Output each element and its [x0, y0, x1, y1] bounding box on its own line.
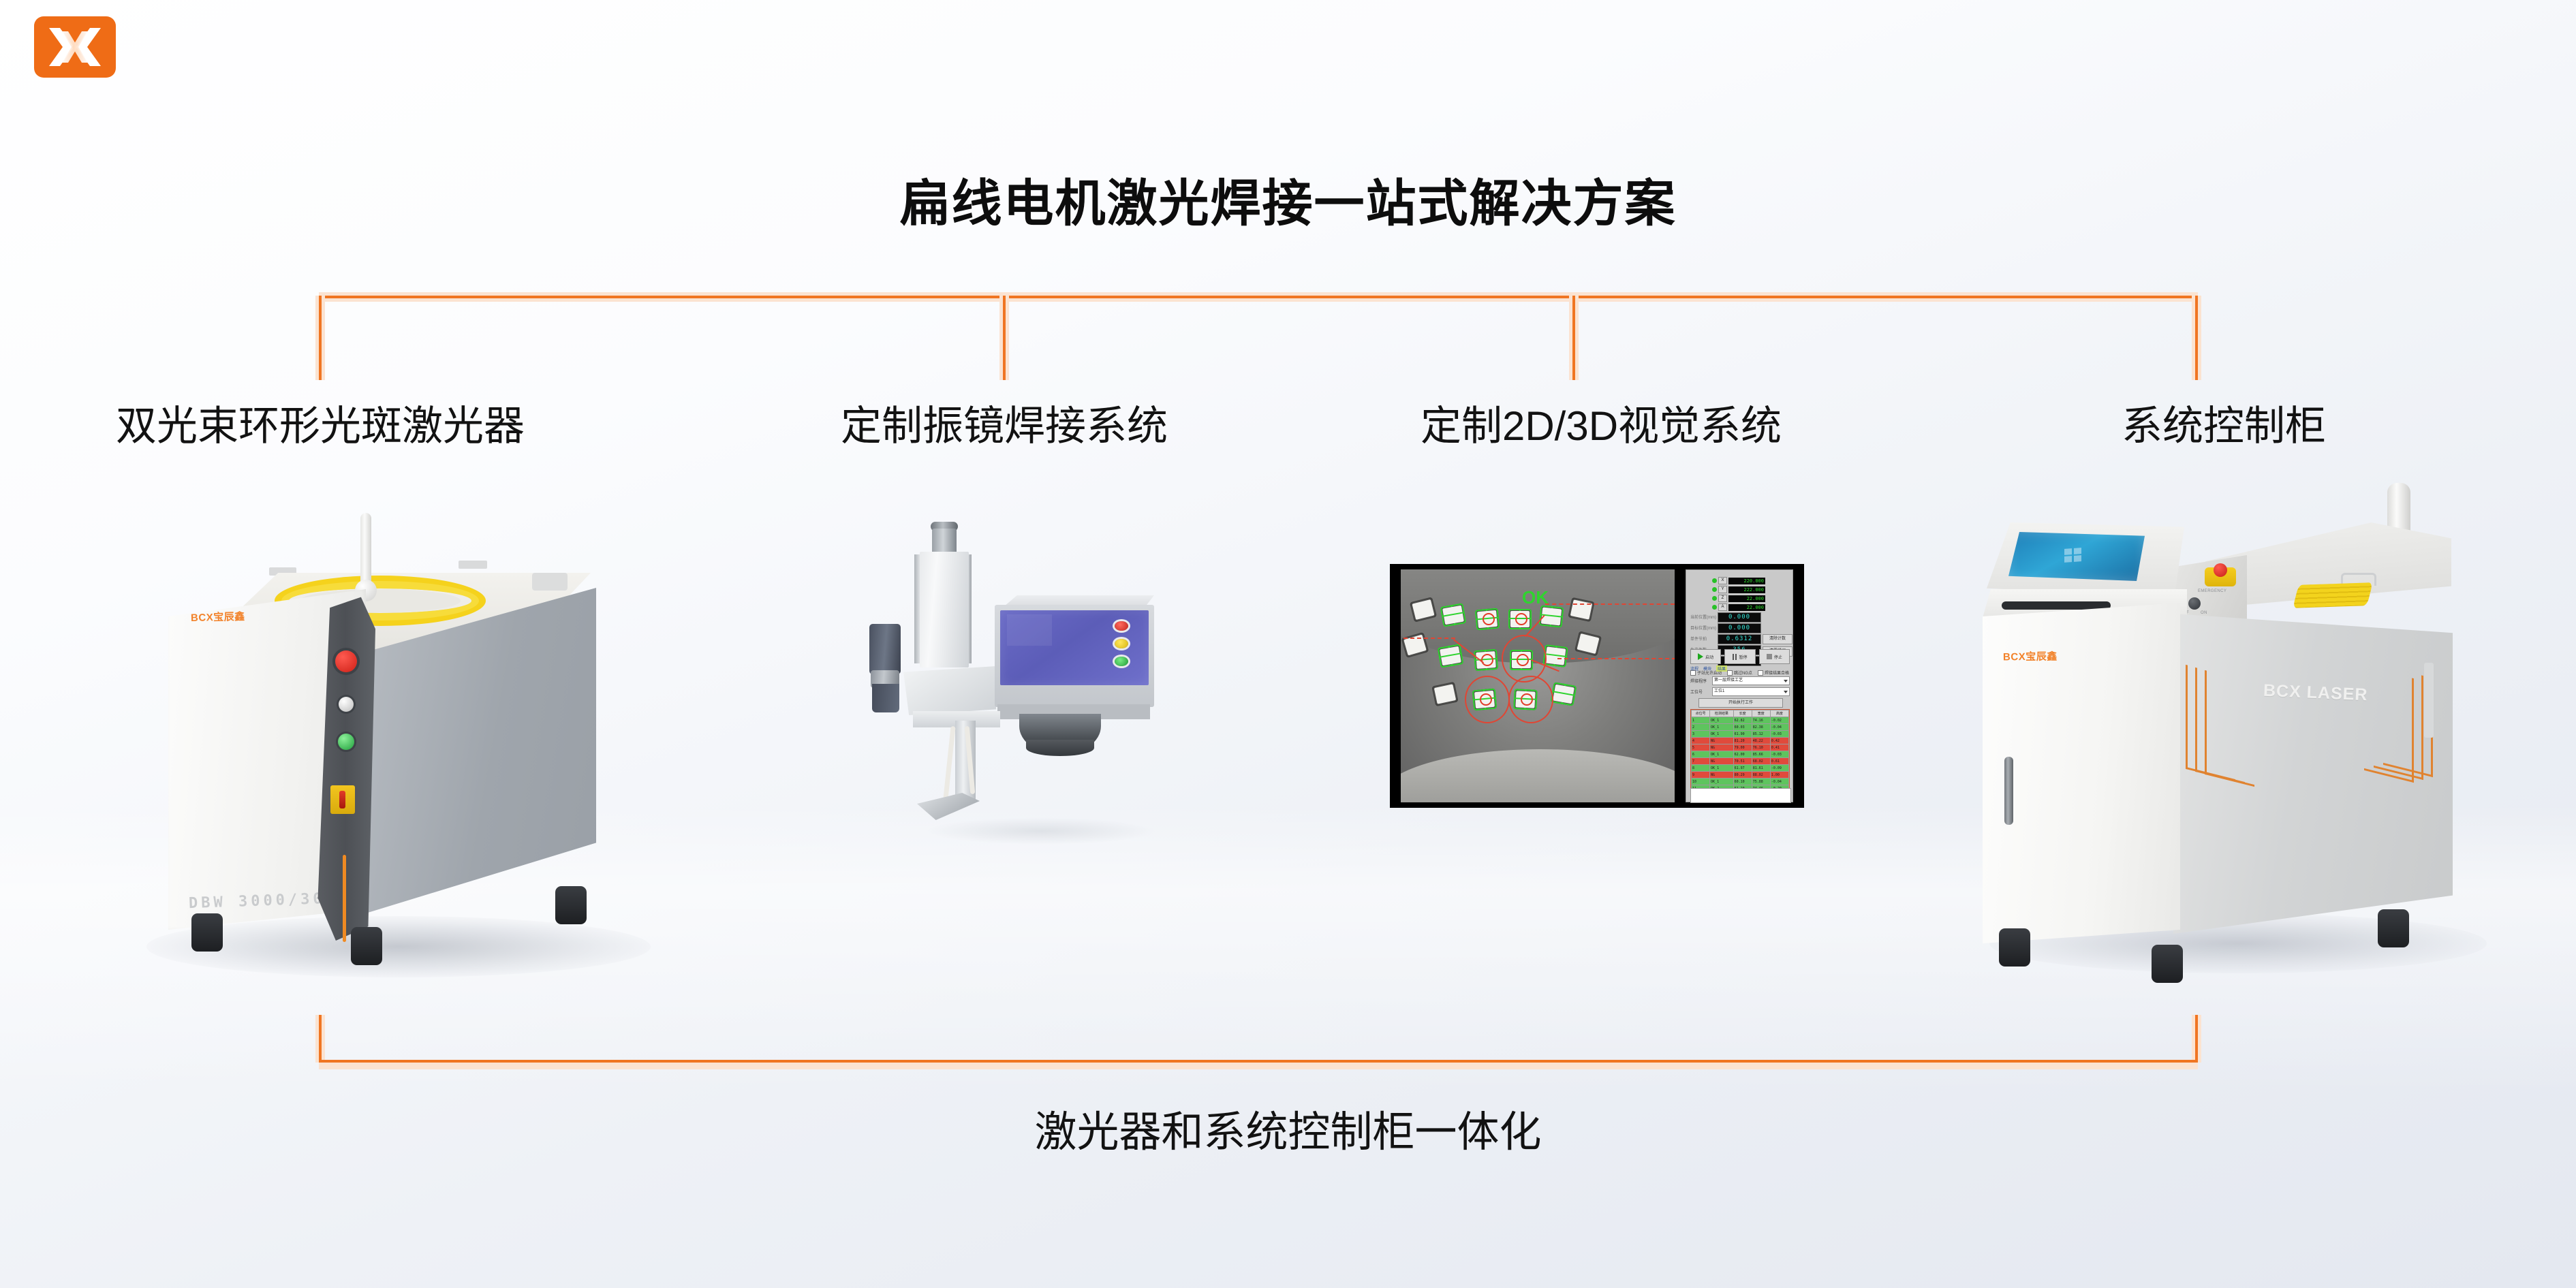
- laser-lug-hole: [532, 573, 568, 591]
- select-station[interactable]: 工位1: [1712, 687, 1790, 696]
- readout-label: 目标位置(mm): [1690, 625, 1716, 631]
- table-row[interactable]: 6OK_162.0085.66-0.03: [1692, 751, 1789, 758]
- table-cell: -0.09: [1770, 765, 1788, 772]
- vision-control-panel: X220.000 Y222.000 Z22.000 A22.000 当前位置(m…: [1686, 569, 1793, 802]
- caster-wheel: [555, 886, 587, 924]
- caster-wheel: [2378, 909, 2409, 947]
- table-cell: 3: [1692, 731, 1710, 738]
- clear-count-button[interactable]: 清除计数: [1763, 634, 1793, 644]
- table-cell: OK_1: [1710, 751, 1734, 758]
- control-cabinet-unit: EMERGENCY OFF ON START BCX LASER BCX宝辰鑫: [1969, 480, 2507, 998]
- table-cell: 10: [1692, 779, 1710, 785]
- table-cell: -0.04: [1770, 779, 1788, 785]
- th-length: 长度: [1733, 710, 1752, 717]
- bcx-chevron-logo-icon: [34, 16, 116, 78]
- power-selector-knob[interactable]: [339, 697, 354, 712]
- select-label-station: 工位号: [1690, 689, 1709, 695]
- table-cell: 60.10: [1733, 779, 1752, 785]
- fiber-coil: [2293, 582, 2373, 608]
- vision-system-screenshot: OK X220.000 Y222.000 Z22.000 A22.000 当前位…: [1390, 564, 1804, 808]
- table-cell: 0.41: [1770, 744, 1788, 751]
- indicator-lamp-green: [1115, 657, 1128, 666]
- inspection-highlight-circle: [1465, 676, 1510, 723]
- windows-logo-icon: [2064, 548, 2082, 563]
- axis-value: 222.000: [1728, 586, 1765, 593]
- callout-dashed-line: [1545, 603, 1675, 605]
- table-row[interactable]: 1OK_162.8274.16-0.02: [1692, 717, 1789, 724]
- table-cell: OK_1: [1710, 779, 1734, 785]
- table-cell: 4: [1692, 738, 1710, 744]
- table-cell: 6: [1692, 751, 1710, 758]
- laser-brand-mark: BCX宝辰鑫: [191, 609, 245, 625]
- table-cell: -0.02: [1770, 717, 1788, 724]
- table-cell: 1: [1692, 717, 1710, 724]
- readout-value: 0.000: [1718, 623, 1761, 633]
- chevron-graphic: [2205, 670, 2254, 787]
- axis-readout-group: X220.000 Y222.000 Z22.000 A22.000: [1712, 577, 1765, 612]
- table-row[interactable]: 8OK_161.9781.61-0.09: [1692, 765, 1789, 772]
- table-row[interactable]: 2OK_160.0382.38-0.04: [1692, 724, 1789, 731]
- table-cell: OK_1: [1710, 765, 1734, 772]
- table-cell: 81.20: [1733, 738, 1752, 744]
- table-cell: -0.03: [1770, 751, 1788, 758]
- table-cell: 88.02: [1752, 772, 1770, 779]
- table-cell: 0.42: [1770, 738, 1788, 744]
- table-cell: 61.90: [1733, 731, 1752, 738]
- caster-wheel: [191, 913, 223, 952]
- start-button[interactable]: [338, 734, 354, 750]
- axis-name: A: [1718, 603, 1727, 611]
- servo-motor: [869, 624, 901, 674]
- table-row[interactable]: 10OK_160.1075.88-0.04: [1692, 779, 1789, 785]
- column-label-cabinet: 系统控制柜: [2013, 406, 2435, 447]
- cabinet-right-panel: [2173, 614, 2453, 934]
- table-cell: 70.51: [1733, 758, 1752, 765]
- hairpin-pad: [1431, 682, 1458, 706]
- page-title: 扁线电机激光焊接一站式解决方案: [0, 178, 2576, 229]
- air-tube: [943, 726, 955, 800]
- bottom-connector-bracket: [319, 1015, 2198, 1105]
- table-cell: 60.03: [1733, 724, 1752, 731]
- accent-stripe: [343, 855, 346, 942]
- pause-run-button[interactable]: 暂停: [1724, 649, 1755, 664]
- table-cell: 62.82: [1733, 717, 1752, 724]
- galvo-shadow: [925, 817, 1157, 845]
- main-switch[interactable]: [330, 785, 355, 814]
- laser-source-unit: BCX宝辰鑫 DBW 3000/3000: [126, 507, 671, 998]
- readout-value: 0.6312: [1718, 634, 1761, 644]
- axis-value: 22.000: [1728, 595, 1765, 602]
- hairpin-pad-detected: [1438, 644, 1464, 667]
- table-cell: 85.66: [1752, 751, 1770, 758]
- axis-row: A22.000: [1712, 603, 1765, 611]
- galvo-z-column: [920, 552, 969, 667]
- table-cell: OK_1: [1710, 724, 1734, 731]
- start-run-button[interactable]: 启动: [1690, 649, 1721, 664]
- axis-name: Y: [1718, 586, 1727, 593]
- axis-name: Z: [1718, 595, 1727, 602]
- emergency-stop-button[interactable]: [335, 650, 357, 672]
- table-cell: 85.12: [1752, 731, 1770, 738]
- table-cell: 0.61: [1770, 758, 1788, 765]
- hairpin-pad-detected: [1542, 644, 1568, 667]
- inspection-highlight-circle: [1508, 676, 1553, 723]
- table-header-row: 点位号 检测结果 长度 宽度 高度: [1692, 710, 1789, 717]
- galvo-mount-arm: [903, 666, 996, 715]
- table-cell: NG: [1710, 738, 1734, 744]
- indicator-lamp-red: [1115, 621, 1128, 631]
- emergency-stop-button[interactable]: [2205, 567, 2236, 586]
- start-work-button[interactable]: 开始执行工作: [1698, 698, 1783, 708]
- weld-center-marker: [1515, 613, 1527, 625]
- table-row[interactable]: 7NG70.5168.020.61: [1692, 758, 1789, 765]
- table-cell: 1.00: [1770, 772, 1788, 779]
- footer-caption: 激光器和系统控制柜一体化: [0, 1112, 2576, 1154]
- column-label-laser: 双光束环形光斑激光器: [82, 406, 559, 447]
- axis-value: 220.000: [1728, 578, 1765, 584]
- stator-inner-ring: [1401, 749, 1675, 802]
- table-cell: 7: [1692, 758, 1710, 765]
- cabinet-brand-mark: BCX宝辰鑫: [2003, 649, 2058, 664]
- weld-center-marker: [1483, 613, 1495, 625]
- axis-row: Y222.000: [1712, 586, 1765, 593]
- table-cell: 62.00: [1733, 751, 1752, 758]
- emergency-stop-label: EMERGENCY: [2198, 589, 2226, 593]
- table-cell: 8: [1692, 765, 1710, 772]
- caster-wheel: [351, 927, 382, 965]
- lifting-bracket-right-icon: [459, 561, 487, 569]
- chevron-graphic: [2364, 666, 2414, 783]
- tab-flow[interactable]: 流程: [1690, 665, 1698, 672]
- table-cell: 79.00: [1733, 744, 1752, 751]
- vision-result-text: OK: [1522, 587, 1549, 608]
- table-empty-area: [1690, 788, 1791, 803]
- table-cell: -0.03: [1770, 731, 1788, 738]
- indicator-lamp-yellow: [1115, 639, 1128, 648]
- table-cell: OK_1: [1710, 731, 1734, 738]
- power-selector-knob[interactable]: [2188, 597, 2201, 610]
- readout-label: 当前位置(mm): [1690, 614, 1716, 620]
- galvo-blue-panel: [1000, 610, 1149, 685]
- inspection-results-table[interactable]: 点位号 检测结果 长度 宽度 高度 1OK_162.8274.16-0.022O…: [1690, 709, 1790, 800]
- tab-result[interactable]: 结果: [1716, 665, 1727, 672]
- axis-value: 22.000: [1728, 604, 1765, 611]
- cabinet-vent-slot: [2002, 601, 2111, 610]
- stop-run-button[interactable]: 停止: [1759, 649, 1790, 664]
- checkbox-weld-ok[interactable]: 焊接结果合格: [1758, 670, 1789, 676]
- column-label-galvo: 定制振镜焊接系统: [786, 406, 1222, 447]
- checkbox-skip-ng[interactable]: 跳过NG点: [1727, 670, 1752, 676]
- caster-wheel: [1999, 928, 2030, 967]
- table-cell: 68.02: [1752, 758, 1770, 765]
- th-width: 宽度: [1752, 710, 1770, 717]
- inspection-highlight-circle: [1502, 635, 1547, 682]
- table-cell: NG: [1710, 758, 1734, 765]
- th-point: 点位号: [1692, 710, 1710, 717]
- top-connector-bracket: [319, 296, 2198, 380]
- caster-wheel: [2152, 945, 2183, 983]
- cabinet-side-strip: [2424, 663, 2434, 738]
- tab-module[interactable]: 模块: [1703, 665, 1711, 672]
- table-cell: NG: [1710, 772, 1734, 779]
- column-label-vision: 定制2D/3D视觉系统: [1349, 406, 1853, 447]
- th-result: 检测结果: [1710, 710, 1734, 717]
- table-cell: 5: [1692, 744, 1710, 751]
- table-cell: 76.10: [1752, 744, 1770, 751]
- table-row[interactable]: 3OK_161.9085.12-0.03: [1692, 731, 1789, 738]
- galvo-column-top: [932, 529, 957, 554]
- galvo-welding-unit: [843, 509, 1198, 864]
- table-cell: 2: [1692, 724, 1710, 731]
- axis-row: Z22.000: [1712, 595, 1765, 602]
- select-weld-program[interactable]: 第一层焊接工艺: [1712, 676, 1790, 685]
- f-theta-lens-bottom: [1026, 740, 1094, 756]
- callout-dashed-line: [1401, 638, 1455, 639]
- table-cell: -0.04: [1770, 724, 1788, 731]
- motor-elbow: [872, 684, 899, 712]
- readout-value: 0.000: [1718, 612, 1761, 623]
- table-cell: 48.22: [1752, 738, 1770, 744]
- table-row[interactable]: 9NG80.2988.021.00: [1692, 772, 1789, 779]
- select-label-program: 焊接程序: [1690, 678, 1709, 684]
- run-control-group: 启动 暂停 停止: [1690, 649, 1790, 664]
- cabinet-door-handle[interactable]: [2004, 757, 2013, 825]
- table-row[interactable]: 5NG79.0076.100.41: [1692, 744, 1789, 751]
- readout-label: 单件节拍: [1690, 635, 1707, 642]
- axis-name: X: [1718, 577, 1727, 584]
- table-row[interactable]: 4NG81.2048.220.42: [1692, 738, 1789, 744]
- table-cell: 9: [1692, 772, 1710, 779]
- weld-center-marker: [1481, 654, 1493, 666]
- hairpin-pad-detected: [1551, 682, 1577, 706]
- table-cell: NG: [1710, 744, 1734, 751]
- callout-dashed-line: [1557, 658, 1675, 659]
- th-height: 高度: [1770, 710, 1788, 717]
- hairpin-pad-detected: [1440, 603, 1467, 627]
- table-cell: 75.88: [1752, 779, 1770, 785]
- table-cell: 82.38: [1752, 724, 1770, 731]
- table-cell: OK_1: [1710, 717, 1734, 724]
- table-cell: 61.97: [1733, 765, 1752, 772]
- knob-on-label: ON: [2201, 611, 2207, 615]
- axis-row: X220.000: [1712, 577, 1765, 584]
- table-cell: 81.61: [1752, 765, 1770, 772]
- vision-camera-view: OK: [1401, 569, 1675, 802]
- table-cell: 80.29: [1733, 772, 1752, 779]
- gas-nozzle: [917, 793, 980, 820]
- table-cell: 74.16: [1752, 717, 1770, 724]
